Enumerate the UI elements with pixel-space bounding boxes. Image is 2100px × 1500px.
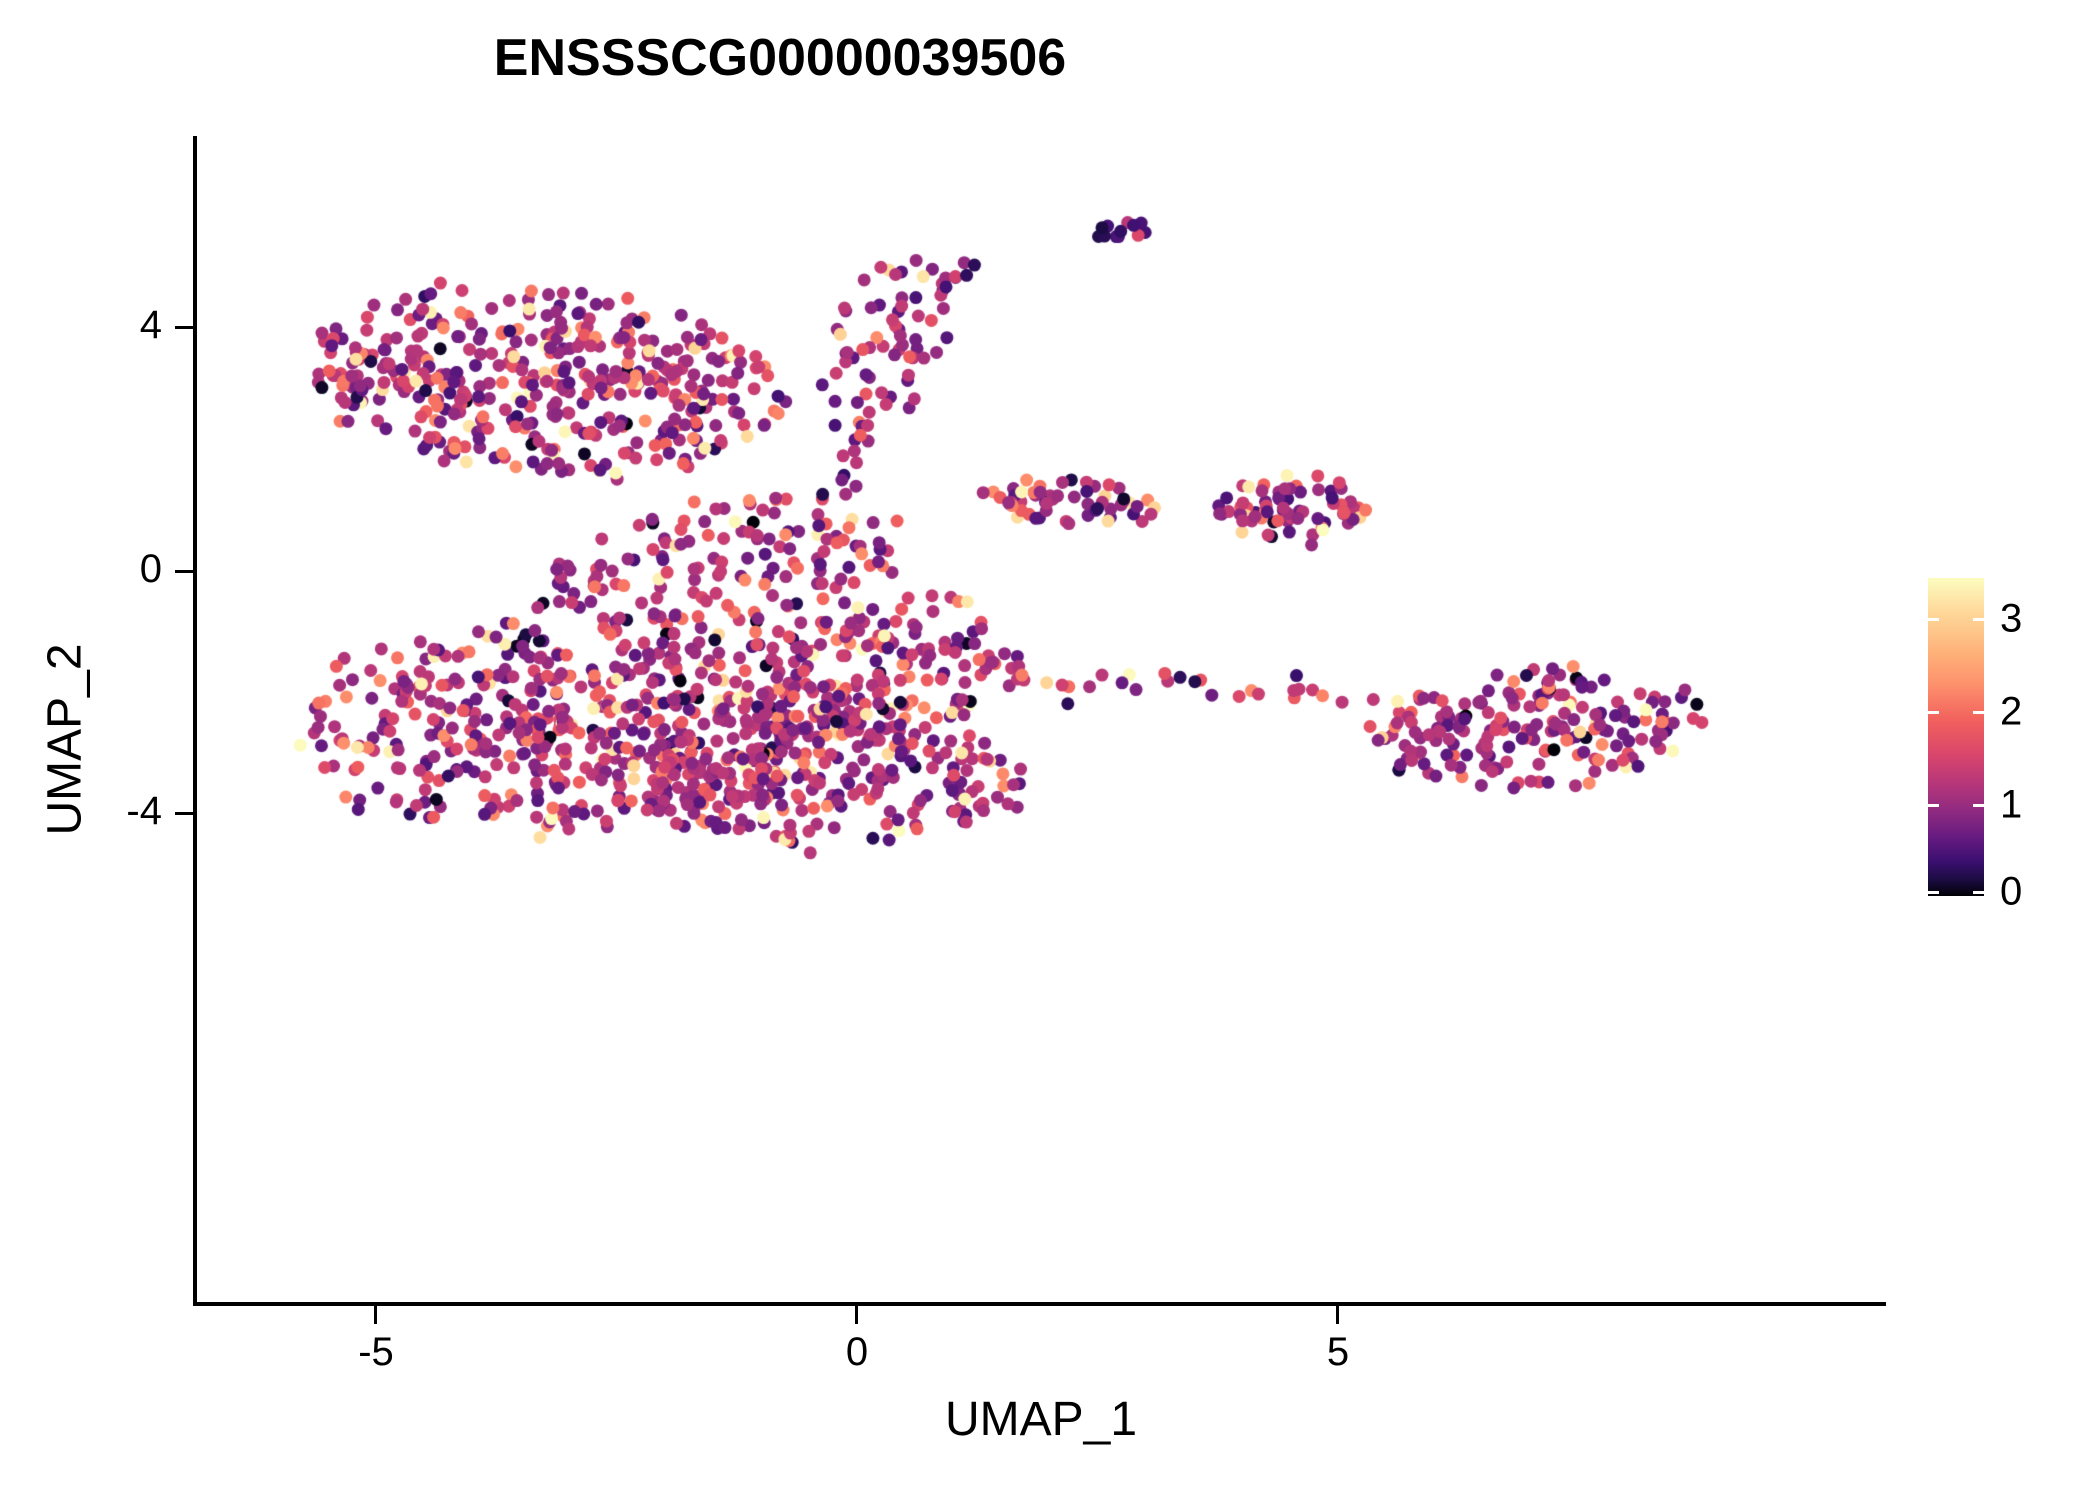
- colorbar-label-3: 3: [2000, 597, 2022, 642]
- x-axis-label-5: 5: [1327, 1330, 1349, 1375]
- x-axis-label-0: 0: [846, 1330, 868, 1375]
- y-axis-tick-0: [175, 570, 193, 573]
- colorbar-tick-2-left: [1928, 711, 1939, 714]
- scatter-plot-canvas: [196, 136, 1886, 1303]
- colorbar-label-2: 2: [2000, 690, 2022, 735]
- x-axis-tick-0: [855, 1306, 858, 1324]
- colorbar-tick-2-right: [1973, 711, 1984, 714]
- y-axis-label-4: 4: [140, 303, 162, 348]
- x-axis-tick-minus5: [374, 1306, 377, 1324]
- page-title: ENSSSCG00000039506: [0, 28, 1560, 88]
- colorbar-tick-3-right: [1973, 618, 1984, 621]
- colorbar-tick-1-right: [1973, 804, 1984, 807]
- x-axis-label-minus5: -5: [358, 1330, 394, 1375]
- y-axis-title: UMAP_2: [38, 155, 93, 1325]
- y-axis-tick-4: [175, 326, 193, 329]
- colorbar-tick-0-right: [1973, 891, 1984, 894]
- colorbar-label-0: 0: [2000, 870, 2022, 915]
- x-axis-line: [193, 1302, 1886, 1306]
- colorbar-tick-3-left: [1928, 618, 1939, 621]
- y-axis-tick-minus4: [175, 812, 193, 815]
- x-axis-tick-5: [1336, 1306, 1339, 1324]
- x-axis-title: UMAP_1: [196, 1392, 1886, 1447]
- feature-plot-figure: ENSSSCG00000039506 4 0 -4 -5 0 5 UMAP_1 …: [0, 0, 2100, 1500]
- plot-panel: [196, 136, 1886, 1303]
- colorbar-tick-0-left: [1928, 891, 1939, 894]
- colorbar-label-1: 1: [2000, 783, 2022, 828]
- colorbar-gradient: [1928, 578, 1984, 896]
- color-legend: 3 2 1 0: [1928, 578, 1984, 896]
- y-axis-label-minus4: -4: [126, 789, 162, 834]
- colorbar-tick-1-left: [1928, 804, 1939, 807]
- y-axis-line: [193, 136, 197, 1306]
- y-axis-label-0: 0: [140, 547, 162, 592]
